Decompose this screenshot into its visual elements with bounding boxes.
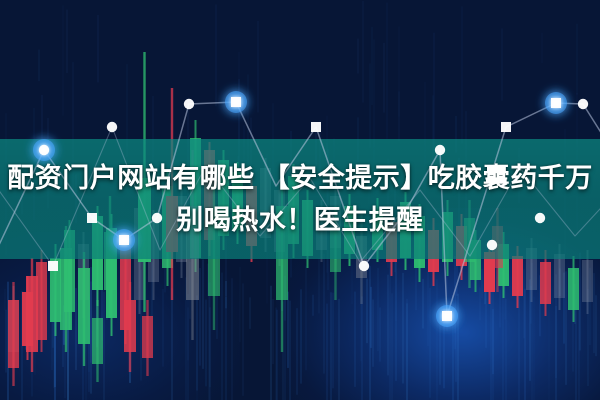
poster-canvas: 配资门户网站有哪些 【安全提示】吃胶囊药千万 别喝热水！医生提醒: [0, 0, 600, 400]
node-network-overlay: [0, 0, 600, 400]
